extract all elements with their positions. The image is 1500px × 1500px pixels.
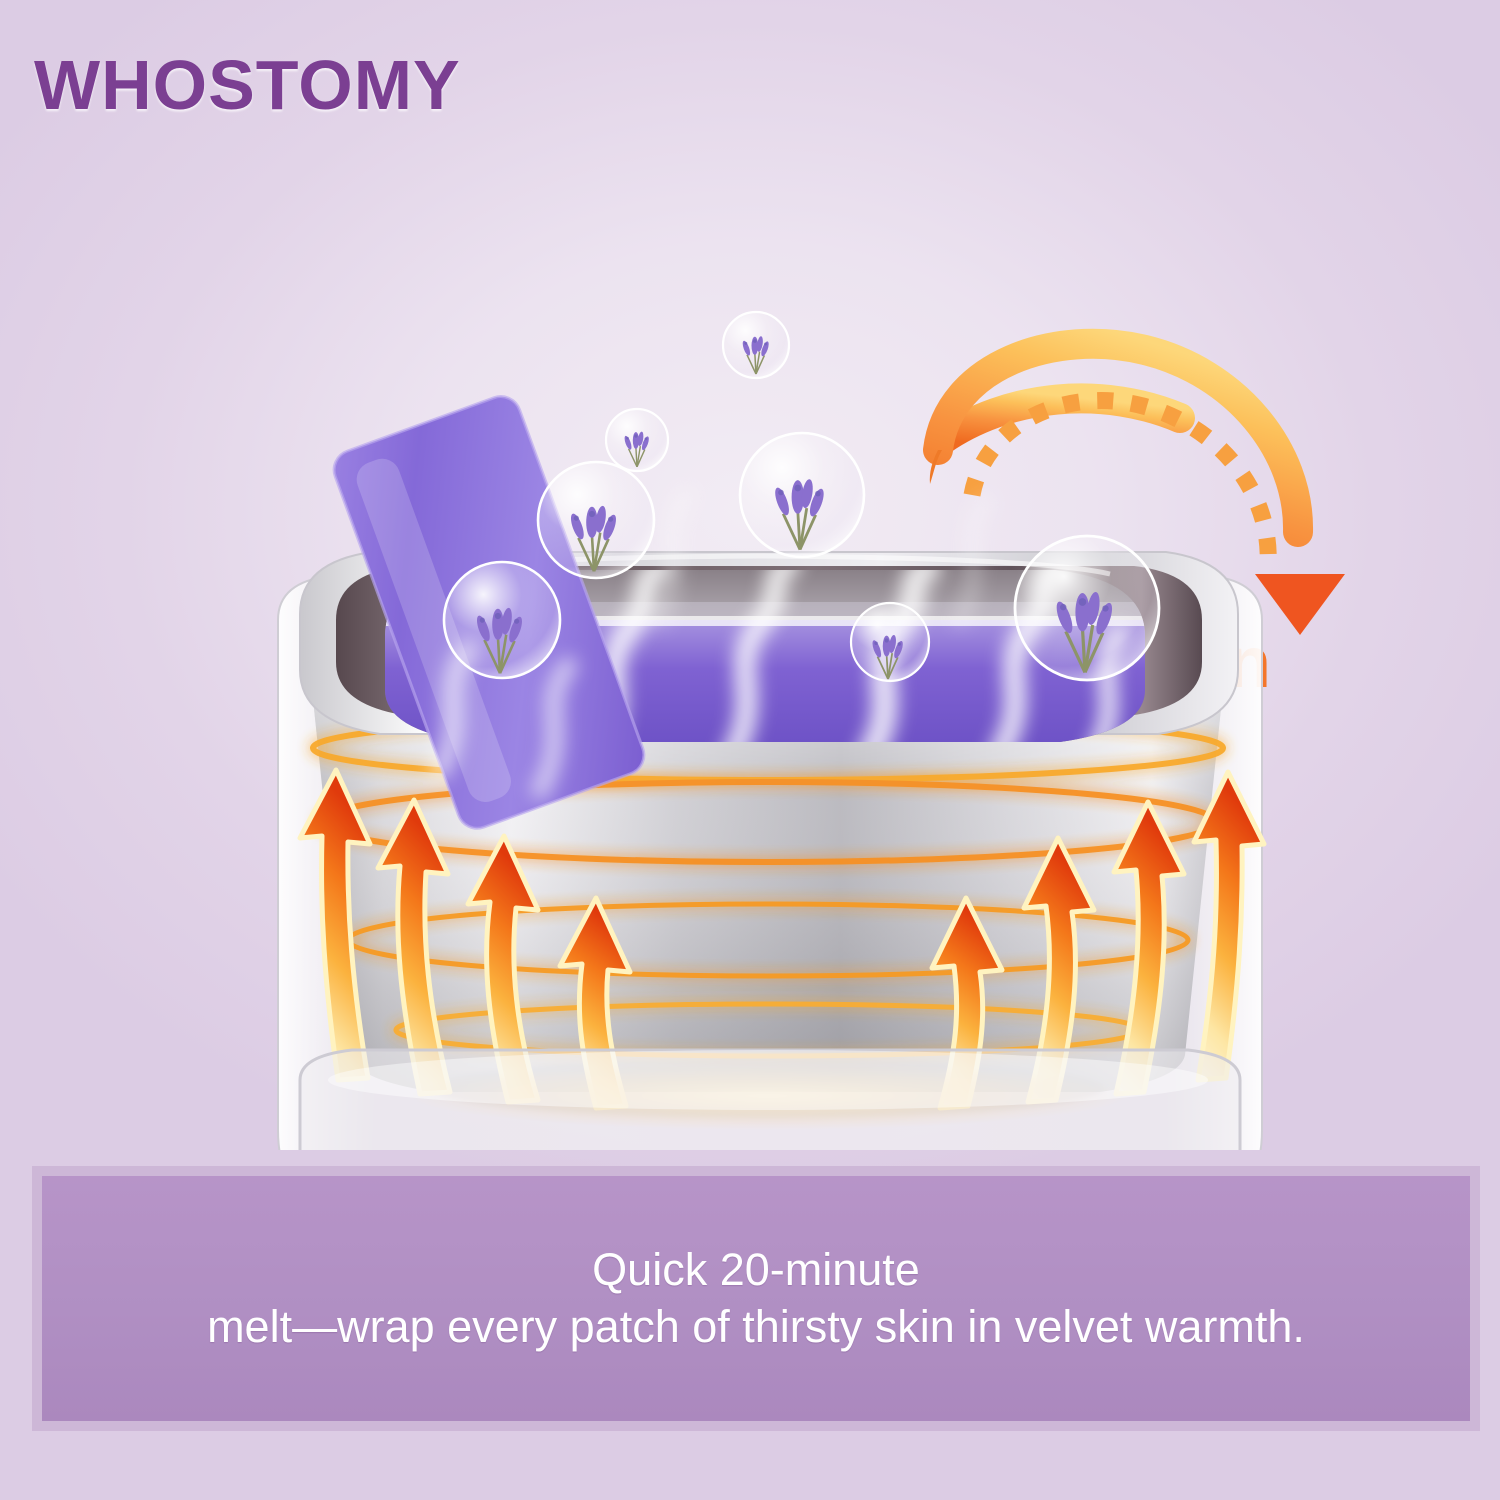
caption-band: Quick 20-minute melt—wrap every patch of…: [32, 1166, 1480, 1431]
lavender-bubble: [851, 603, 929, 681]
caption-panel: Quick 20-minute melt—wrap every patch of…: [42, 1176, 1470, 1421]
lavender-bubble: [723, 312, 789, 378]
lavender-bubble: [538, 462, 654, 578]
caption-line-1: Quick 20-minute: [207, 1242, 1305, 1299]
caption-line-2: melt—wrap every patch of thirsty skin in…: [207, 1299, 1305, 1356]
brand-wordmark: WHOSTOMY: [34, 50, 461, 120]
caption-text: Quick 20-minute melt—wrap every patch of…: [181, 1242, 1331, 1355]
product-illustration: 20 min: [0, 150, 1500, 1150]
product-poster: WHOSTOMY: [0, 0, 1500, 1500]
lavender-bubble: [740, 433, 864, 557]
lavender-bubble: [606, 409, 668, 471]
lavender-bubble: [444, 562, 560, 678]
lavender-bubble: [1015, 536, 1159, 680]
warmer-base: [300, 1050, 1240, 1150]
